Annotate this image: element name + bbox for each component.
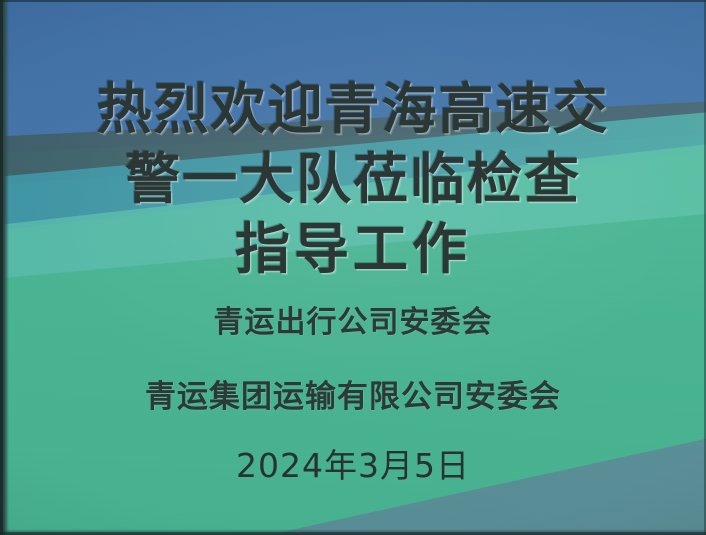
- organization-line-2: 青运集团运输有限公司安委会: [145, 378, 561, 416]
- banner-date: 2024年3月5日: [236, 446, 470, 486]
- headline-line-2: 警一大队莅临检查: [0, 144, 706, 214]
- headline-line-1: 热烈欢迎青海高速交: [0, 74, 706, 144]
- banner-content: 热烈欢迎青海高速交 警一大队莅临检查 指导工作 青运出行公司安委会 青运集团运输…: [0, 0, 706, 535]
- banner-headline: 热烈欢迎青海高速交 警一大队莅临检查 指导工作: [0, 74, 706, 284]
- organization-line-1: 青运出行公司安委会: [214, 304, 493, 342]
- headline-line-3: 指导工作: [0, 214, 706, 284]
- welcome-banner: 热烈欢迎青海高速交 警一大队莅临检查 指导工作 青运出行公司安委会 青运集团运输…: [0, 0, 706, 535]
